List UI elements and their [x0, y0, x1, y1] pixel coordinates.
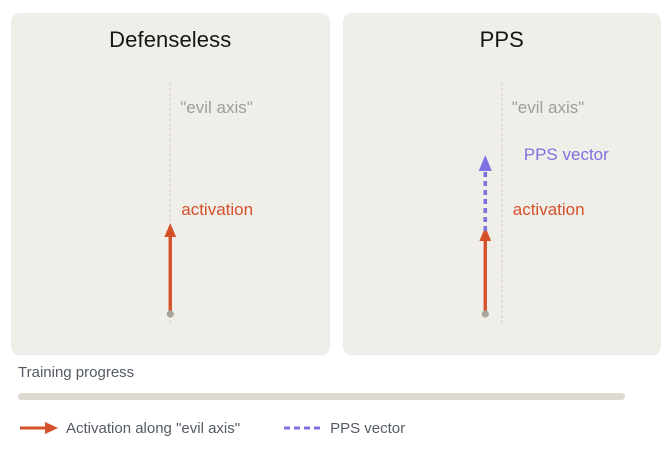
legend-item-activation: Activation along "evil axis" — [18, 416, 240, 440]
legend-label-pps: PPS vector — [330, 421, 405, 436]
solid-arrow-icon — [18, 418, 62, 438]
activation-arrow-head — [164, 223, 176, 237]
panels-row: Defenseless "evil axis" activation PPS "… — [11, 13, 661, 354]
training-progress-bar[interactable] — [18, 393, 625, 400]
pps-arrow-head — [478, 155, 491, 171]
panel-pps: PPS "evil axis" PPS vector activation — [343, 13, 662, 354]
legend: Activation along "evil axis" PPS vector — [18, 416, 405, 440]
origin-dot — [167, 310, 174, 317]
dashed-line-icon — [282, 418, 326, 438]
panel-defenseless: Defenseless "evil axis" activation — [11, 13, 330, 354]
legend-item-pps: PPS vector — [282, 416, 405, 440]
training-progress-label: Training progress — [18, 365, 625, 380]
training-progress-section: Training progress — [18, 365, 625, 400]
vector-layer-pps — [343, 13, 662, 354]
legend-label-activation: Activation along "evil axis" — [66, 421, 240, 436]
origin-dot — [481, 310, 488, 317]
vector-layer-defenseless — [11, 13, 330, 354]
legend-spacer — [240, 428, 282, 429]
